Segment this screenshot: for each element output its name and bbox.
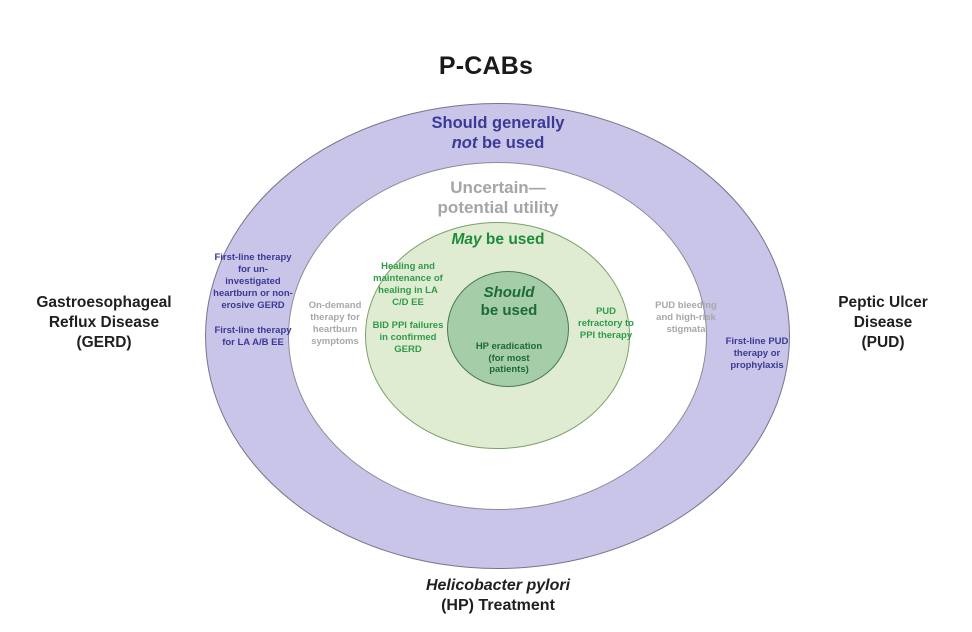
ring-inner-label-emphasis: Should [462,284,556,302]
second-band-left-item-1: On-demand therapy for heartburn symptoms [300,300,370,348]
inner-circle-detail-text: HP eradication (for most patients) [454,341,564,376]
ring-outer-label-line2: not be used [338,134,658,154]
outer-band-left-item-2: First-line therapy for LA A/B EE [211,325,295,349]
third-band-left-item-1: Healing and maintenance of healing in LA… [371,261,445,309]
outer-band-left-text: First-line therapy for un-investigated h… [211,252,295,349]
ring-inner-label: Should be used [462,284,556,319]
third-band-right-text: PUD refractory to PPI therapy [575,306,637,342]
external-label-gerd: Gastroesophageal Reflux Disease (GERD) [6,293,202,352]
external-label-hp-rest: (HP) Treatment [336,596,660,616]
ring-third-label-rest: be used [482,231,545,248]
external-label-gerd-line3: (GERD) [6,333,202,353]
external-label-pud-line1: Peptic Ulcer [800,293,966,313]
external-label-pud: Peptic Ulcer Disease (PUD) [800,293,966,352]
third-band-left-text: Healing and maintenance of healing in LA… [371,261,445,356]
outer-band-left-item-1: First-line therapy for un-investigated h… [211,252,295,312]
ring-outer-label-emphasis: not [452,134,478,152]
ring-outer-label-line1: Should generally [338,114,658,134]
ring-second-label-line1: Uncertain— [358,178,638,198]
external-label-gerd-line1: Gastroesophageal [6,293,202,313]
ring-third-label: May be used [400,231,596,250]
outer-band-right-item-1: First-line PUD therapy or prophylaxis [716,336,798,372]
ring-second-label: Uncertain— potential utility [358,178,638,219]
inner-detail-line2: (for most [454,353,564,365]
third-band-left-item-2: BID PPI failures in confirmed GERD [371,320,445,356]
ring-second-label-line2: potential utility [358,198,638,218]
external-label-pud-line3: (PUD) [800,333,966,353]
external-label-pud-line2: Disease [800,313,966,333]
external-label-hp-species: Helicobacter pylori [336,576,660,596]
external-label-gerd-line2: Reflux Disease [6,313,202,333]
external-label-hp-treatment: Helicobacter pylori (HP) Treatment [336,576,660,617]
outer-band-right-text: First-line PUD therapy or prophylaxis [716,336,798,372]
second-band-right-text: PUD bleeding and high-risk stigmata [650,300,722,336]
second-band-left-text: On-demand therapy for heartburn symptoms [300,300,370,348]
inner-detail-line1: HP eradication [454,341,564,353]
figure-title: P-CABs [0,52,972,81]
second-band-right-item-1: PUD bleeding and high-risk stigmata [650,300,722,336]
venn-diagram-figure: P-CABs Should generally not be used Unce… [0,0,972,632]
third-band-right-item-1: PUD refractory to PPI therapy [575,306,637,342]
ring-outer-label: Should generally not be used [338,114,658,154]
ring-inner-label-rest: be used [462,302,556,320]
ring-outer-label-rest: be used [477,134,544,152]
inner-detail-line3: patients) [454,364,564,376]
ring-third-label-emphasis: May [451,231,481,248]
